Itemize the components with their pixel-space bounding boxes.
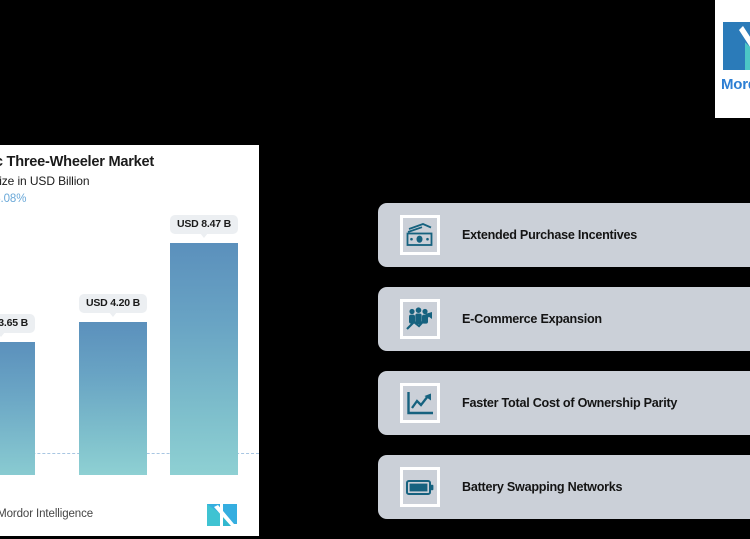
driver-label: Faster Total Cost of Ownership Parity (462, 396, 677, 410)
chart-cagr-line: CAGR 15.08% (0, 191, 249, 207)
cash-banknote-icon (400, 215, 440, 255)
market-size-chart-card: Electric Three-Wheeler Market Market Siz… (0, 145, 259, 536)
mordor-footer-logo-icon (207, 504, 237, 526)
mordor-logo-mark-icon (723, 22, 750, 70)
chart-footer: Source : Mordor Intelligence (0, 502, 249, 528)
bar-2031[interactable] (170, 243, 238, 475)
market-drivers-list: Extended Purchase Incentives E-Commerce … (378, 203, 750, 539)
driver-card-e-commerce-expansion[interactable]: E-Commerce Expansion (378, 287, 750, 351)
bar-value-label-2025: USD 3.65 B (0, 314, 35, 333)
bar-2026[interactable] (79, 322, 147, 475)
driver-card-extended-purchase-incentives[interactable]: Extended Purchase Incentives (378, 203, 750, 267)
line-chart-arrow-icon (400, 383, 440, 423)
chart-plot-area: USD 3.65 B 2025 USD 4.20 B 2026 USD 8.47… (0, 215, 259, 475)
driver-label: Battery Swapping Networks (462, 480, 622, 494)
battery-icon (400, 467, 440, 507)
driver-card-battery-swapping-networks[interactable]: Battery Swapping Networks (378, 455, 750, 519)
people-growth-arrow-icon (400, 299, 440, 339)
driver-label: Extended Purchase Incentives (462, 228, 637, 242)
chart-subtitle: Market Size in USD Billion (0, 173, 249, 190)
chart-source-text: Source : Mordor Intelligence (0, 508, 93, 520)
mordor-wordmark: Mordor (721, 76, 750, 93)
bar-value-label-2026: USD 4.20 B (79, 294, 147, 313)
chart-title: Electric Three-Wheeler Market (0, 153, 249, 171)
driver-card-faster-total-cost-of-ownership-parity[interactable]: Faster Total Cost of Ownership Parity (378, 371, 750, 435)
mordor-logo-panel: Mordor (715, 0, 750, 118)
cagr-value: 15.08% (0, 193, 26, 205)
driver-label: E-Commerce Expansion (462, 312, 602, 326)
bar-2025[interactable] (0, 342, 35, 475)
bar-value-label-2031: USD 8.47 B (170, 215, 238, 234)
chart-header: Electric Three-Wheeler Market Market Siz… (0, 153, 249, 207)
